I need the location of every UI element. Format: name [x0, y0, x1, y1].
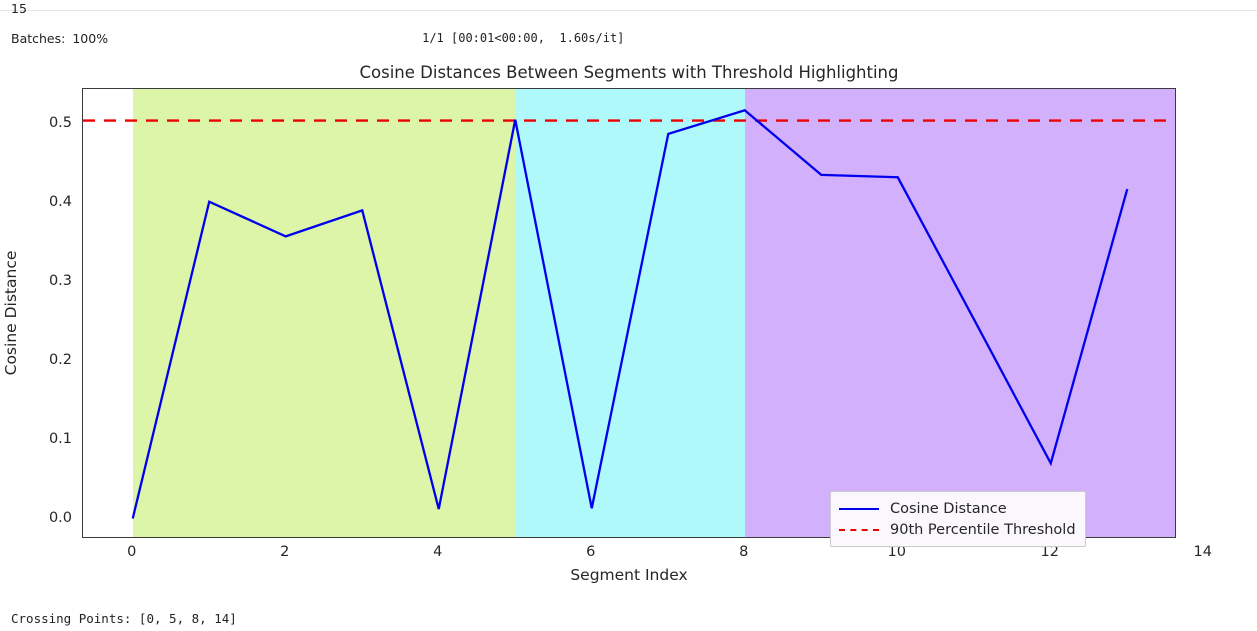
- y-tick-0.3: 0.3: [49, 273, 72, 289]
- legend-entry-series: Cosine Distance: [839, 498, 1076, 519]
- plot-canvas: [83, 89, 1176, 538]
- matplotlib-figure: Cosine Distances Between Segments with T…: [0, 52, 1257, 608]
- x-tick-0: 0: [127, 544, 136, 560]
- x-tick-14: 14: [1194, 544, 1212, 560]
- legend-swatch-cosine-distance: [839, 508, 879, 510]
- scalar-output-value: 15: [11, 1, 27, 16]
- cell-divider: [0, 10, 1257, 11]
- y-tick-0.2: 0.2: [49, 352, 72, 368]
- y-tick-0.0: 0.0: [49, 510, 72, 526]
- y-tick-0.4: 0.4: [49, 194, 72, 210]
- progress-label: Batches:: [11, 31, 65, 46]
- x-tick-6: 6: [586, 544, 595, 560]
- y-tick-0.1: 0.1: [49, 431, 72, 447]
- progress-percent: 100%: [72, 31, 108, 46]
- x-tick-2: 2: [280, 544, 289, 560]
- progress-bar-row: Batches: 100% 1/1 [00:01<00:00, 1.60s/it…: [11, 29, 624, 47]
- x-tick-8: 8: [739, 544, 748, 560]
- y-tick-0.5: 0.5: [49, 115, 72, 131]
- notebook-output-header: 15 Batches: 100% 1/1 [00:01<00:00, 1.60s…: [0, 0, 1257, 52]
- legend-swatch-threshold: [839, 529, 879, 531]
- chart-legend: Cosine Distance 90th Percentile Threshol…: [830, 491, 1086, 547]
- x-tick-4: 4: [433, 544, 442, 560]
- crossing-points-output: Crossing Points: [0, 5, 8, 14]: [11, 611, 237, 626]
- legend-entry-threshold: 90th Percentile Threshold: [839, 519, 1076, 540]
- cosine-distance-line: [133, 110, 1128, 518]
- legend-label-threshold: 90th Percentile Threshold: [890, 522, 1076, 538]
- progress-stats: 1/1 [00:01<00:00, 1.60s/it]: [422, 31, 624, 45]
- chart-title: Cosine Distances Between Segments with T…: [82, 63, 1176, 82]
- legend-label-cosine-distance: Cosine Distance: [890, 501, 1007, 517]
- progress-track: [116, 30, 413, 47]
- y-axis-tick-labels: 0.00.10.20.30.40.5: [0, 88, 72, 538]
- x-axis-tick-labels: 02468101214: [82, 544, 1176, 564]
- plot-area: [82, 88, 1176, 538]
- x-axis-label: Segment Index: [82, 566, 1176, 584]
